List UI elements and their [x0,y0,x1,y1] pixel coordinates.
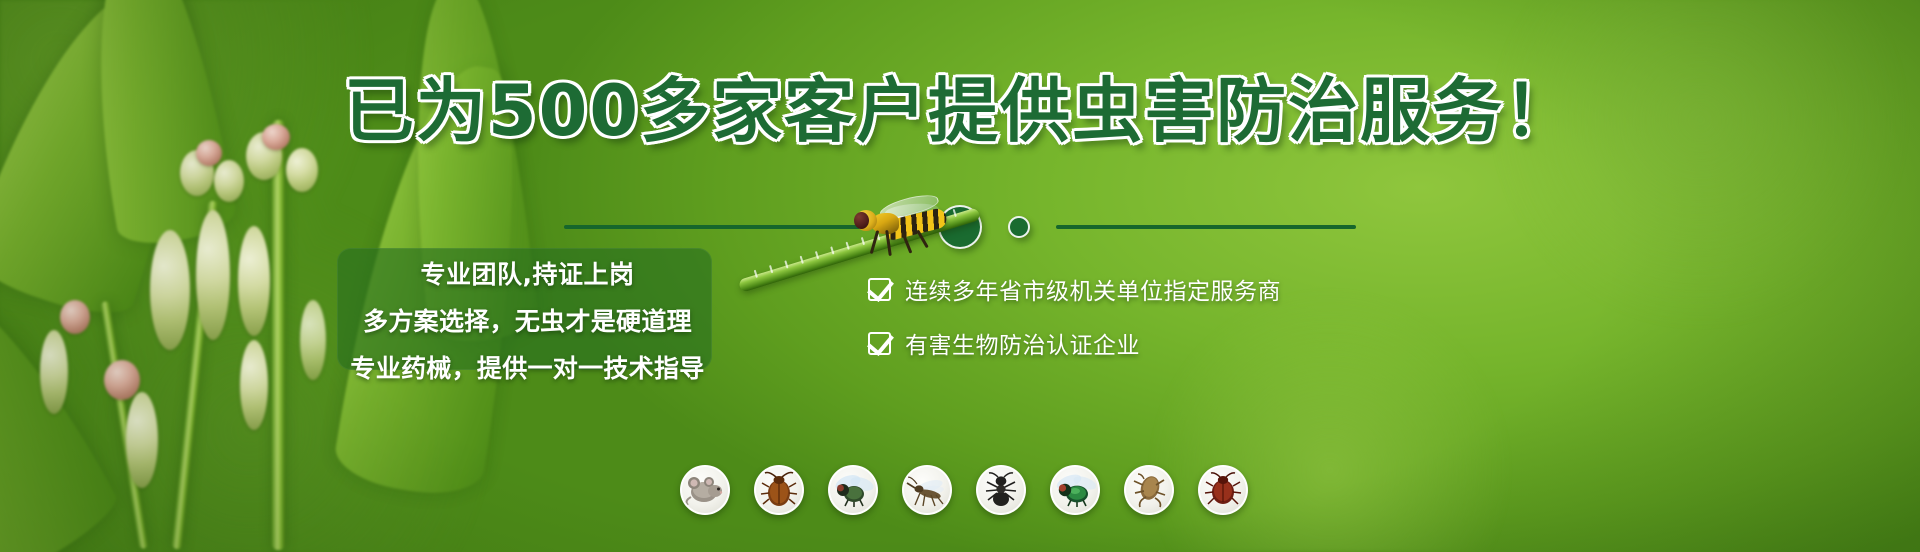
divider-dot-small-right [1008,216,1030,238]
page-title-text: 已为500多家客户提供虫害防治服务！ [344,70,1576,152]
page-title: 已为500多家客户提供虫害防治服务！ [0,72,1920,150]
checkbox-checked-icon [868,278,891,301]
blowfly-icon[interactable]: 绿头蝇 [1050,465,1100,515]
list-item: 有害生物防治认证企业 [868,326,1388,360]
checklist-text-1: 连续多年省市级机关单位指定服务商 [905,272,1281,306]
divider-bar-right [1056,225,1356,229]
cockroach-icon[interactable]: 蟑螂 [754,465,804,515]
feature-line-1: 专业团队,持证上岗 [421,255,635,291]
housefly-icon[interactable]: 苍蝇 [828,465,878,515]
hoverfly-label: 食蚜蝇 [845,196,846,197]
list-item: 连续多年省市级机关单位指定服务商 [868,272,1388,306]
ant-icon[interactable]: 蚂蚁 [976,465,1026,515]
hoverfly-icon: 食蚜蝇 [845,196,960,256]
mosquito-icon[interactable]: 蚊子 [902,465,952,515]
feature-line-2: 多方案选择，无虫才是硬道理 [363,302,692,338]
mouse-icon[interactable]: 鼠类 [680,465,730,515]
checkbox-checked-icon [868,332,891,355]
certification-checklist: 连续多年省市级机关单位指定服务商 有害生物防治认证企业 [868,272,1388,360]
pest-type-icon-row: 鼠类 蟑螂 [680,465,1248,515]
feature-list: 专业团队,持证上岗 多方案选择，无虫才是硬道理 专业药械，提供一对一技术指导 [330,255,725,385]
pest-control-hero-banner: 已为500多家客户提供虫害防治服务！ 专业团队,持证上岗 多方案选择，无虫才是硬… [0,0,1920,552]
feature-line-3: 专业药械，提供一对一技术指导 [350,349,704,385]
bedbug-icon[interactable]: 臭虫 [1198,465,1248,515]
flea-icon[interactable]: 跳蚤 [1124,465,1174,515]
hoverfly-eye [854,212,869,229]
checklist-text-2: 有害生物防治认证企业 [905,326,1140,360]
